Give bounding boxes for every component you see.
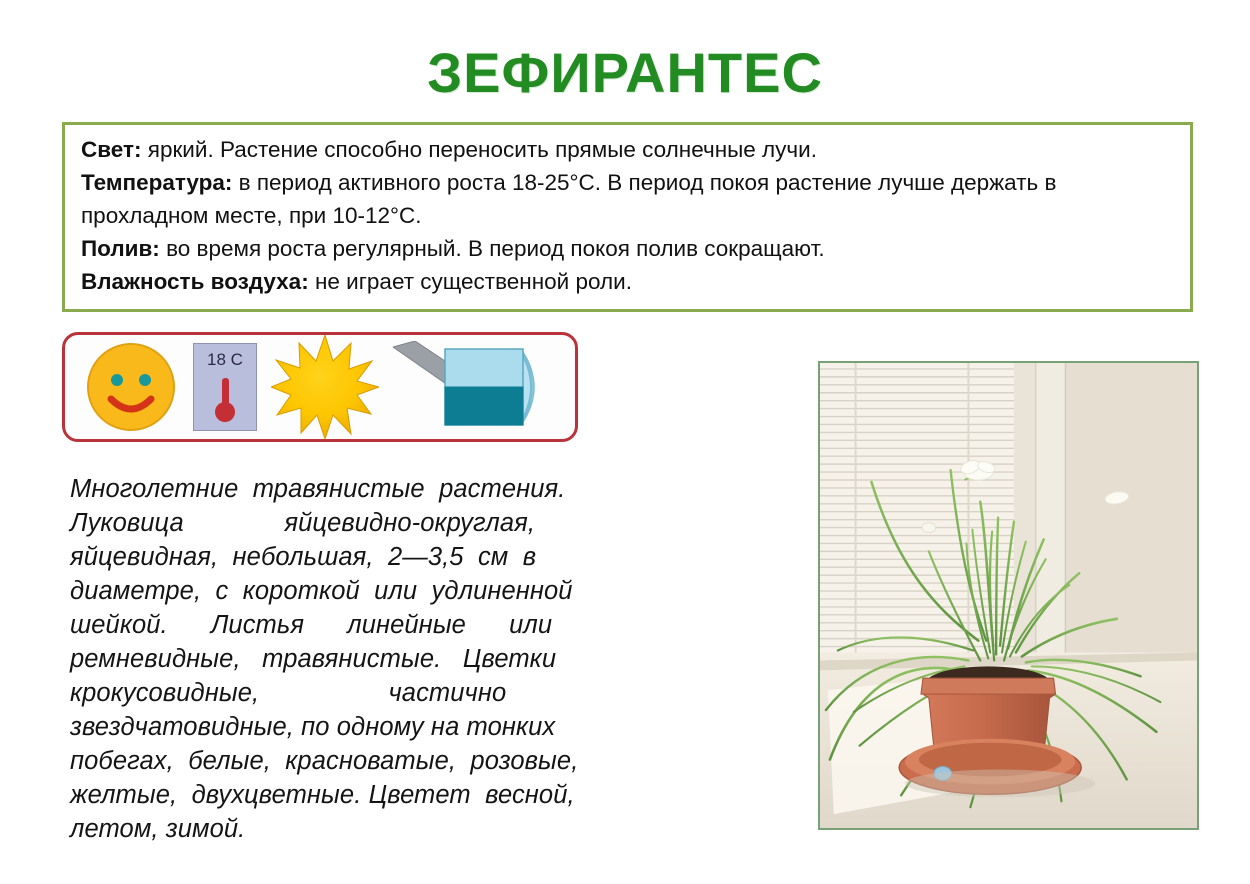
thermometer-label: 18 C: [194, 350, 256, 370]
description-line: крокусовидные, частично: [70, 676, 690, 710]
care-info-box: Свет: яркий. Растение способно переносит…: [62, 122, 1193, 312]
description-line: Многолетние травянистые растения.: [70, 472, 690, 506]
care-text-light: яркий. Растение способно переносить прям…: [142, 137, 817, 162]
thermometer-icon: 18 C: [193, 343, 257, 431]
watering-can-icon: [393, 341, 563, 433]
description-line: яйцевидная, небольшая, 2—3,5 см в: [70, 540, 690, 574]
care-label-humidity: Влажность воздуха:: [81, 269, 309, 294]
care-icon-strip: 18 C: [62, 332, 578, 442]
care-line-humidity: Влажность воздуха: не играет существенно…: [81, 265, 1176, 298]
description-line: Луковица яйцевидно-округлая,: [70, 506, 690, 540]
plant-description: Многолетние травянистые растения. Лукови…: [70, 472, 690, 846]
description-line: ремневидные, травянистые. Цветки: [70, 642, 690, 676]
care-label-light: Свет:: [81, 137, 142, 162]
care-line-light: Свет: яркий. Растение способно переносит…: [81, 133, 1176, 166]
description-line: летом, зимой.: [70, 812, 690, 846]
care-text-humidity: не играет существенной роли.: [309, 269, 632, 294]
care-line-watering: Полив: во время роста регулярный. В пери…: [81, 232, 1176, 265]
sun-burst-icon: [271, 335, 379, 439]
description-line: побегах, белые, красноватые, розовые,: [70, 744, 690, 778]
care-label-watering: Полив:: [81, 236, 160, 261]
description-line: желтые, двухцветные. Цветет весной,: [70, 778, 690, 812]
care-line-temperature: Температура: в период активного роста 18…: [81, 166, 1176, 232]
care-text-watering: во время роста регулярный. В период поко…: [160, 236, 825, 261]
care-label-temperature: Температура:: [81, 170, 232, 195]
description-line: звездчатовидные, по одному на тонких: [70, 710, 690, 744]
thermometer-bulb: [215, 402, 235, 422]
plant-photo-illustration: [820, 363, 1197, 828]
page-title: ЗЕФИРАНТЕС: [0, 44, 1250, 103]
smiley-face-icon: [83, 339, 179, 435]
description-line: шейкой. Листья линейные или: [70, 608, 690, 642]
plant-photo: [818, 361, 1199, 830]
description-line: диаметре, с короткой или удлиненной: [70, 574, 690, 608]
